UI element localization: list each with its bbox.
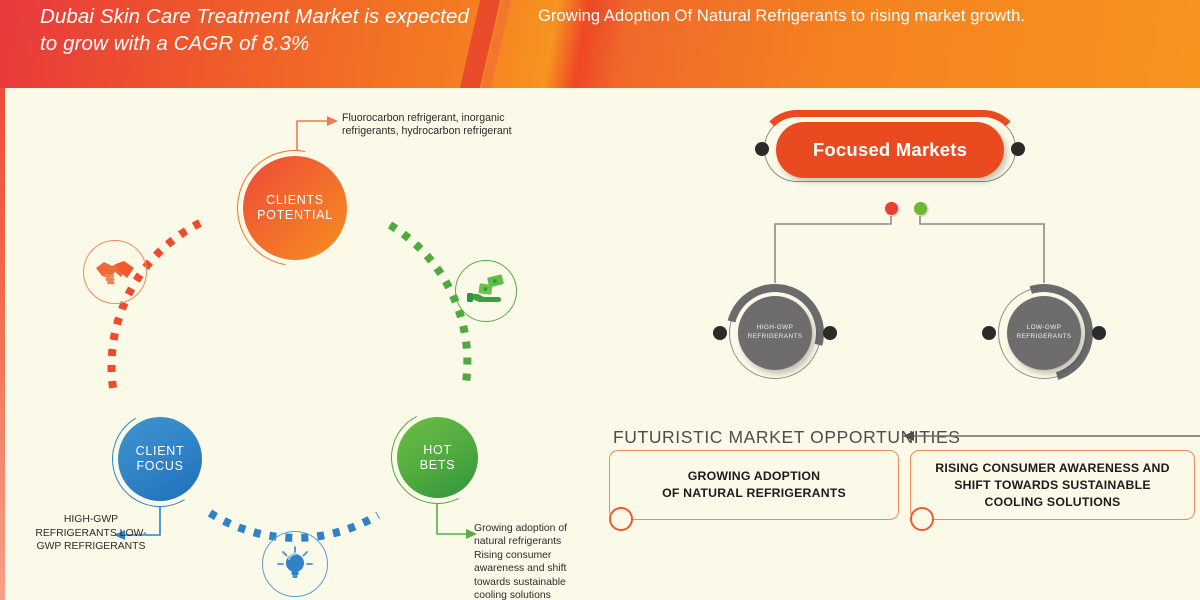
- opportunity-box-1-label: GROWING ADOPTION OF NATURAL REFRIGERANTS: [662, 468, 846, 502]
- lightbulb-icon-glyph: [275, 544, 315, 584]
- clients-callout-arrowhead: [327, 116, 338, 126]
- callout-hot-bets: Growing adoption of natural refrigerants…: [474, 522, 592, 600]
- bubble-hot-bets[interactable]: HOT BETS: [397, 417, 478, 498]
- opportunity-box-1[interactable]: GROWING ADOPTION OF NATURAL REFRIGERANTS: [609, 450, 899, 520]
- right-diagram: Focused Markets HIGH-GWP REFRIGERANTS: [600, 88, 1200, 600]
- low-gwp-left-dot: [982, 326, 996, 340]
- bubble-hot-bets-label: HOT BETS: [420, 443, 455, 473]
- connector-to-low-gwp: [920, 216, 1044, 283]
- bubble-clients-potential[interactable]: CLIENTS POTENTIAL: [243, 156, 347, 260]
- infographic-root: Dubai Skin Care Treatment Market is expe…: [0, 0, 1200, 600]
- opportunity-box-2-ring: [910, 507, 934, 531]
- bubble-client-focus[interactable]: CLIENT FOCUS: [118, 417, 202, 501]
- opportunity-box-2[interactable]: RISING CONSUMER AWARENESS AND SHIFT TOWA…: [910, 450, 1195, 520]
- connector-to-high-gwp: [775, 216, 891, 283]
- bubble-client-focus-label: CLIENT FOCUS: [136, 444, 185, 474]
- left-circular-diagram: CLIENTS POTENTIAL CLIENT FOCUS HOT BETS: [0, 88, 600, 600]
- green-dotted-arc: [390, 225, 467, 383]
- red-connector-dot: [885, 202, 898, 215]
- low-gwp-core: LOW-GWP REFRIGERANTS: [1007, 296, 1081, 370]
- callout-clients-potential: Fluorocarbon refrigerant, inorganic refr…: [342, 112, 522, 139]
- callout-client-focus: HIGH-GWP REFRIGERANTS LOW-GWP REFRIGERAN…: [34, 513, 148, 554]
- market-node-high-gwp[interactable]: HIGH-GWP REFRIGERANTS: [726, 284, 824, 382]
- money-in-hand-icon-glyph: [466, 274, 506, 308]
- lightbulb-icon: [262, 531, 328, 597]
- high-gwp-core: HIGH-GWP REFRIGERANTS: [738, 296, 812, 370]
- header-left-headline: Dubai Skin Care Treatment Market is expe…: [40, 3, 470, 57]
- low-gwp-label: LOW-GWP REFRIGERANTS: [1017, 324, 1072, 341]
- bubble-clients-potential-label: CLIENTS POTENTIAL: [257, 193, 333, 223]
- opportunities-arrowhead: [903, 431, 914, 441]
- money-in-hand-icon: [455, 260, 517, 322]
- handshake-icon: [83, 240, 147, 304]
- hotbets-callout-connector: [437, 504, 466, 534]
- low-gwp-right-dot: [1092, 326, 1106, 340]
- header-banner: Dubai Skin Care Treatment Market is expe…: [0, 0, 1200, 88]
- high-gwp-right-dot: [823, 326, 837, 340]
- header-right-headline: Growing Adoption Of Natural Refrigerants…: [538, 3, 1178, 30]
- markets-connector-tree: [600, 88, 1200, 448]
- opportunity-box-2-label: RISING CONSUMER AWARENESS AND SHIFT TOWA…: [935, 460, 1169, 511]
- high-gwp-left-dot: [713, 326, 727, 340]
- opportunity-box-1-ring: [609, 507, 633, 531]
- market-node-low-gwp[interactable]: LOW-GWP REFRIGERANTS: [995, 284, 1093, 382]
- high-gwp-label: HIGH-GWP REFRIGERANTS: [748, 324, 803, 341]
- clients-callout-connector: [297, 121, 327, 150]
- green-connector-dot: [914, 202, 927, 215]
- handshake-icon-glyph: [94, 257, 136, 287]
